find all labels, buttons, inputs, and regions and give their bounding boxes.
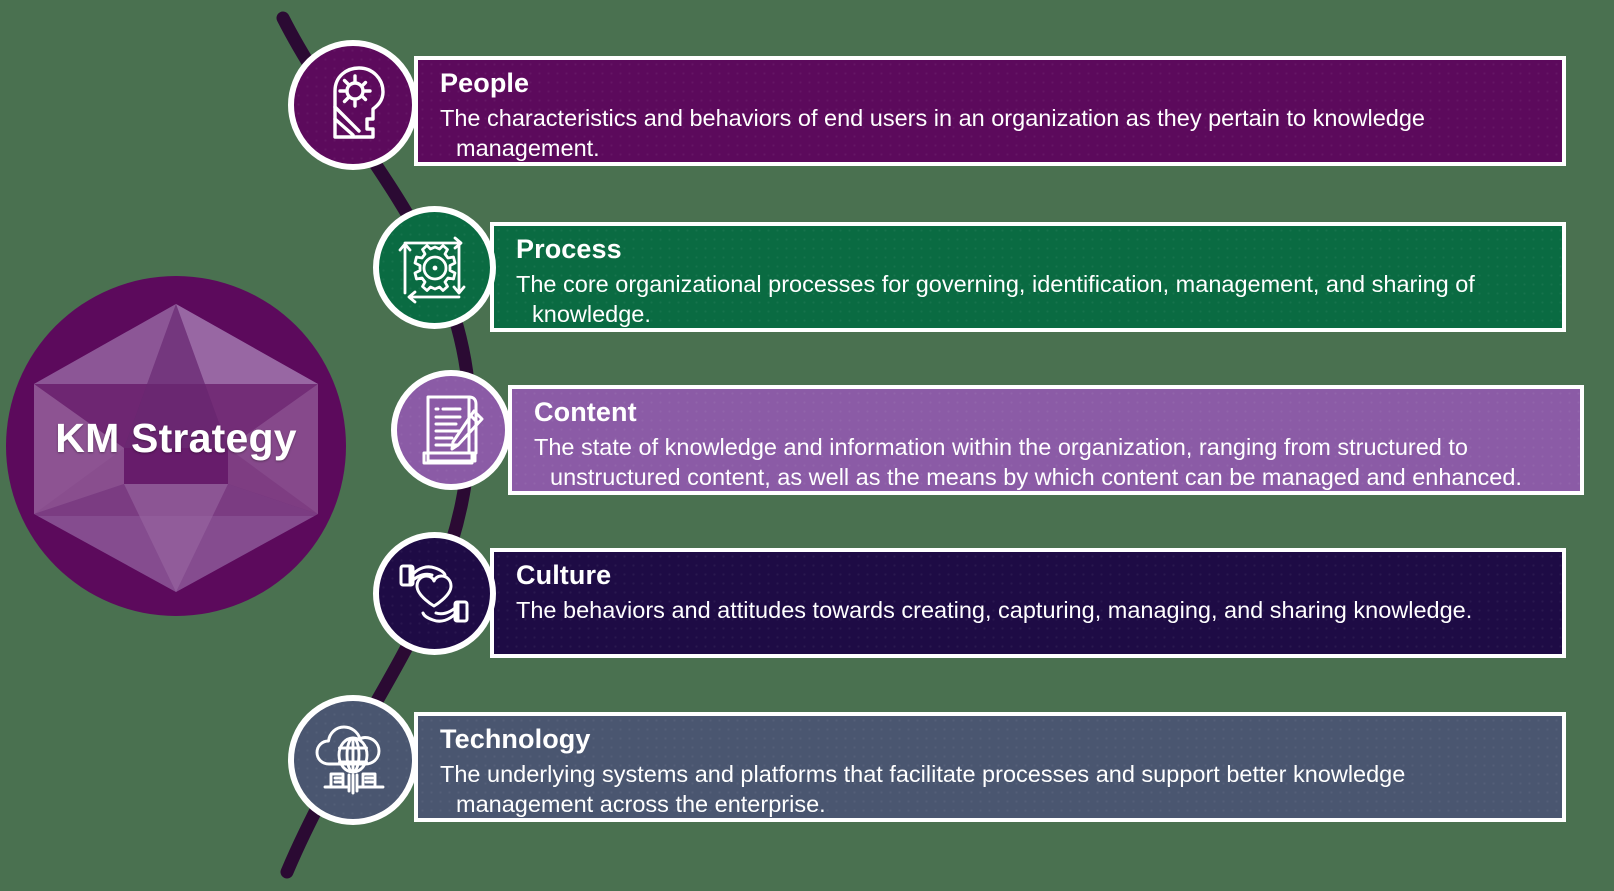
desc-line-2: management. — [440, 134, 1530, 164]
desc-line-1: The characteristics and behaviors of end… — [440, 105, 1425, 131]
pillar-description-people: The characteristics and behaviors of end… — [440, 104, 1530, 163]
pillar-title-technology: Technology — [440, 726, 591, 753]
pillar-title-people: People — [440, 70, 529, 97]
document-pencil-icon[interactable] — [391, 370, 511, 490]
gear-cycle-icon[interactable] — [373, 206, 496, 329]
pillar-title-process: Process — [516, 236, 622, 263]
pillar-bar-culture[interactable]: Culture The behaviors and attitudes towa… — [490, 548, 1566, 658]
pillar-bar-process[interactable]: Process The core organizational processe… — [490, 222, 1566, 332]
desc-line-2: management across the enterprise. — [440, 790, 1500, 820]
km-strategy-label: KM Strategy — [6, 415, 346, 462]
desc-line-2: knowledge. — [516, 300, 1536, 330]
desc-line-1: The state of knowledge and information w… — [534, 434, 1468, 460]
pillar-title-content: Content — [534, 399, 637, 426]
cloud-globe-buildings-icon[interactable] — [288, 695, 418, 825]
pillar-description-content: The state of knowledge and information w… — [534, 433, 1564, 492]
km-strategy-hub: KM Strategy — [6, 276, 346, 616]
desc-line-2: unstructured content, as well as the mea… — [534, 463, 1564, 493]
desc-line-1: The behaviors and attitudes towards crea… — [516, 597, 1472, 623]
desc-line-1: The underlying systems and platforms tha… — [440, 761, 1405, 787]
pillar-bar-technology[interactable]: Technology The underlying systems and pl… — [414, 712, 1566, 822]
pillar-bar-people[interactable]: People The characteristics and behaviors… — [414, 56, 1566, 166]
infographic-canvas: KM Strategy People The characteristics a… — [0, 0, 1614, 891]
pillar-title-culture: Culture — [516, 562, 611, 589]
head-with-idea-icon[interactable] — [288, 40, 418, 170]
hands-heart-icon[interactable] — [373, 532, 496, 655]
pillar-description-culture: The behaviors and attitudes towards crea… — [516, 596, 1536, 626]
desc-line-1: The core organizational processes for go… — [516, 271, 1475, 297]
pillar-description-process: The core organizational processes for go… — [516, 270, 1536, 329]
pillar-description-technology: The underlying systems and platforms tha… — [440, 760, 1500, 819]
pillar-bar-content[interactable]: Content The state of knowledge and infor… — [508, 385, 1584, 495]
